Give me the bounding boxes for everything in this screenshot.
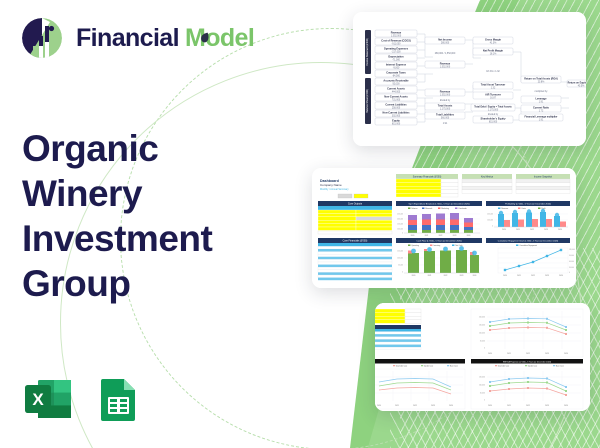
flow-node: Total Assets 1,175,000 [425, 103, 465, 110]
svg-text:18.1% x 1.32: 18.1% x 1.32 [486, 71, 500, 73]
svg-text:2020: 2020 [412, 275, 416, 277]
flow-node: Return on Total Assets (ROA) 23.8% [521, 76, 561, 83]
svg-text:Shareholder's Equity: Shareholder's Equity [481, 117, 507, 120]
svg-text:divided by: divided by [440, 100, 451, 102]
svg-text:2022: 2022 [531, 275, 535, 277]
leaf-icon [200, 32, 209, 43]
svg-text:Leverage: Leverage [536, 97, 548, 100]
svg-text:Total Assets: Total Assets [438, 104, 453, 107]
svg-text:2024: 2024 [564, 405, 568, 407]
flow-node: Return on Equity (ROE) 45.5% [567, 80, 586, 87]
brand-wordmark: Financial Model [76, 26, 254, 51]
svg-text:2024: 2024 [467, 235, 471, 237]
svg-text:2022: 2022 [413, 405, 417, 407]
flow-node: Total Liabilities 560,000 [425, 112, 465, 119]
svg-text:0: 0 [402, 233, 403, 235]
panel-title-banner-left [375, 359, 465, 364]
svg-text:100,000: 100,000 [487, 220, 493, 222]
svg-text:0: 0 [569, 272, 570, 274]
core-outputs-panel: Core Outputs [318, 201, 392, 234]
summary-financials-panel: Summary Financials (£'000) [396, 174, 458, 197]
svg-text:2024: 2024 [564, 353, 568, 355]
svg-text:23.8%: 23.8% [538, 81, 545, 83]
svg-text:Current Liabilities: Current Liabilities [385, 103, 407, 106]
flow-node: Non-Current Assets 731,000 [375, 94, 417, 101]
svg-text:1,552,000: 1,552,000 [440, 66, 451, 68]
svg-text:2021: 2021 [425, 235, 429, 237]
page-title-line-4: Group [22, 261, 262, 306]
svg-text:615,000: 615,000 [489, 121, 498, 123]
svg-text:-911,000: -911,000 [392, 43, 402, 45]
svg-text:2022: 2022 [444, 275, 448, 277]
svg-text:Non-Current Assets: Non-Current Assets [384, 95, 408, 98]
flow-node: Current Assets 444,000 [375, 86, 417, 93]
projection-charts-card[interactable]: 200,000150,000 100,00050,0000 2020202120… [375, 303, 590, 411]
svg-text:258,000: 258,000 [392, 107, 401, 109]
flow-node: A/R Turnover 16.87 [473, 92, 513, 99]
svg-text:Profitability (£ '000) - 5 Yea: Profitability (£ '000) - 5 Years (or Dec… [505, 203, 551, 206]
svg-text:2021: 2021 [395, 405, 399, 407]
svg-text:2022: 2022 [530, 229, 534, 231]
brand-name-green: Model [185, 26, 254, 51]
svg-text:Balance Sheet (£'000): Balance Sheet (£'000) [366, 89, 369, 113]
svg-text:Gross Margin: Gross Margin [485, 38, 502, 41]
flow-node: Revenue 1,552,000 [425, 89, 465, 96]
svg-text:Marketing: Marketing [441, 207, 448, 210]
svg-text:2021: 2021 [507, 353, 511, 355]
poster-canvas: Financial Model Organic Winery Investmen… [0, 0, 600, 448]
flow-node: Net Income 280,000 [425, 37, 465, 44]
svg-text:Base Case: Base Case [556, 365, 564, 367]
svg-text:Cash Flow (£ '000) - 5 Years (: Cash Flow (£ '000) - 5 Years (or Decembe… [416, 240, 462, 243]
svg-text:100,000: 100,000 [479, 333, 485, 335]
svg-text:1.72: 1.72 [539, 110, 544, 112]
flow-node: Corporate Taxes -64,000 [375, 70, 417, 77]
svg-text:280,000 / 1,552,000: 280,000 / 1,552,000 [435, 53, 456, 55]
svg-text:Summary Financials (£'000): Summary Financials (£'000) [413, 176, 442, 179]
svg-text:Current Assets: Current Assets [387, 87, 405, 90]
svg-text:Return on Total Assets (ROA): Return on Total Assets (ROA) [524, 77, 558, 80]
svg-text:Base Case: Base Case [450, 365, 458, 367]
flow-node: Total Asset Turnover 1.32 [473, 82, 513, 89]
svg-text:2020: 2020 [411, 235, 415, 237]
svg-text:90,000: 90,000 [569, 255, 574, 257]
flow-node: Leverage 1.91 [521, 96, 561, 103]
dupont-flowchart: Income Statement (£'000) Balance Sheet (… [353, 12, 586, 146]
svg-text:731,000: 731,000 [392, 99, 401, 101]
svg-text:2024: 2024 [449, 405, 453, 407]
svg-text:Downside Case: Downside Case [396, 365, 407, 367]
flow-node: Non-Current Liabilities 302,000 [375, 110, 417, 117]
svg-text:1.91: 1.91 [443, 123, 448, 125]
svg-text:2024: 2024 [473, 275, 477, 277]
svg-text:444,000: 444,000 [392, 91, 401, 93]
svg-text:Core Outputs: Core Outputs [348, 203, 363, 206]
svg-text:100,000: 100,000 [397, 229, 403, 231]
income-snapshot-panel: Income Snapshot [516, 174, 570, 193]
assumptions-table [375, 309, 421, 350]
svg-text:50,000: 50,000 [398, 265, 403, 267]
svg-text:Income Statement (£'000): Income Statement (£'000) [366, 38, 369, 66]
svg-text:0: 0 [484, 348, 485, 350]
svg-text:2023: 2023 [431, 405, 435, 407]
flow-node: Shareholder's Equity 615,000 [473, 116, 513, 123]
svg-text:Revenue: Revenue [501, 208, 508, 210]
flow-node: Total Debt / Equity = Total Assets 1,175… [471, 104, 515, 111]
svg-text:Cumulative Repayment Chart (£: Cumulative Repayment Chart (£ '000) - 5 … [498, 240, 559, 243]
svg-text:2020: 2020 [377, 405, 381, 407]
flow-node: Revenue 1,552,000 [375, 30, 417, 37]
page-title-line-2: Winery [22, 171, 262, 216]
svg-text:Total Debt / Equity = Total As: Total Debt / Equity = Total Assets [474, 105, 512, 108]
flow-node: Equity 615,000 [375, 118, 417, 125]
svg-text:2023: 2023 [460, 275, 464, 277]
svg-text:Current Ratio: Current Ratio [533, 106, 549, 109]
svg-text:2023: 2023 [544, 229, 548, 231]
svg-text:Equity: Equity [392, 119, 400, 122]
svg-text:Total Asset Turnover: Total Asset Turnover [481, 83, 506, 86]
svg-text:150,000: 150,000 [397, 224, 403, 226]
svg-text:Upside Case: Upside Case [528, 365, 537, 367]
flow-node: Depreciation -71,000 [375, 54, 417, 61]
svg-text:A/R Turnover: A/R Turnover [485, 93, 501, 96]
file-format-icons: X [22, 373, 144, 425]
flow-node: Current Ratio 1.72 [521, 105, 561, 112]
page-title-line-1: Organic [22, 126, 262, 171]
svg-text:Cumulative Repayment: Cumulative Repayment [519, 244, 537, 247]
svg-text:Cost of Revenue (COGS): Cost of Revenue (COGS) [381, 39, 411, 42]
svg-text:Downside Case: Downside Case [498, 365, 509, 367]
flow-node: Cost of Revenue (COGS) -911,000 [375, 38, 417, 45]
svg-text:302,000: 302,000 [392, 115, 401, 117]
svg-text:1,175,000: 1,175,000 [488, 109, 499, 111]
svg-text:Accounts Receivable: Accounts Receivable [383, 79, 409, 82]
svg-text:2023: 2023 [545, 353, 549, 355]
svg-text:150,000: 150,000 [479, 377, 485, 379]
svg-text:1.91: 1.91 [539, 101, 544, 103]
svg-text:1.91: 1.91 [539, 119, 544, 121]
svg-text:50,000: 50,000 [480, 393, 485, 395]
brand-name-green-text: Model [185, 24, 254, 52]
svg-text:-9,000: -9,000 [393, 67, 400, 69]
svg-text:Interest Expense: Interest Expense [386, 63, 407, 66]
pie-bar-chart-logo-icon [20, 16, 64, 60]
svg-text:2020: 2020 [502, 229, 506, 231]
svg-text:Monthly / Annual Summary: Monthly / Annual Summary [320, 188, 349, 191]
svg-text:Overheads: Overheads [458, 207, 466, 210]
flow-node: Gross Margin 41.3% [473, 37, 513, 44]
svg-text:Return on Equity (ROE): Return on Equity (ROE) [568, 81, 586, 84]
page-title-line-3: Investment [22, 216, 262, 261]
svg-text:2022: 2022 [439, 235, 443, 237]
svg-text:Costs: Costs [521, 207, 525, 210]
flow-node: Revenue 1,552,000 [425, 61, 465, 68]
svg-text:X: X [32, 390, 44, 409]
svg-text:92,000: 92,000 [392, 83, 400, 85]
key-metrics-panel: Key Metrics [462, 174, 512, 193]
svg-text:Total Liabilities: Total Liabilities [436, 113, 455, 116]
svg-text:Revenue: Revenue [440, 62, 451, 65]
svg-text:1,552,000: 1,552,000 [391, 35, 402, 37]
core-financials-panel: Core Financials (£'000) [318, 238, 392, 280]
svg-text:-71,000: -71,000 [392, 59, 401, 61]
page-title: Organic Winery Investment Group [22, 126, 262, 307]
svg-text:2023: 2023 [545, 275, 549, 277]
svg-text:Investing: Investing [433, 244, 440, 247]
svg-text:Revenue: Revenue [391, 31, 402, 34]
svg-text:2021: 2021 [516, 229, 520, 231]
svg-text:1.32: 1.32 [491, 87, 496, 89]
svg-text:2022: 2022 [526, 405, 530, 407]
svg-text:-64,000: -64,000 [392, 75, 401, 77]
svg-text:Key Metrics: Key Metrics [481, 176, 494, 179]
svg-text:Salaries: Salaries [411, 207, 417, 210]
svg-text:0: 0 [402, 272, 403, 274]
svg-text:45.5%: 45.5% [578, 85, 585, 87]
svg-text:2022: 2022 [526, 353, 530, 355]
svg-text:Core Financials (£'000): Core Financials (£'000) [343, 240, 368, 243]
svg-text:Non-Current Liabilities: Non-Current Liabilities [383, 111, 411, 114]
svg-text:60,000: 60,000 [569, 261, 574, 263]
svg-text:2024: 2024 [558, 229, 562, 231]
svg-text:18.1%: 18.1% [490, 53, 497, 55]
svg-text:Operating Expenses: Operating Expenses [384, 47, 409, 50]
svg-text:2024: 2024 [559, 275, 563, 277]
flow-node: Net Profit Margin 18.1% [473, 48, 513, 55]
brand-name-dark: Financial [76, 26, 179, 51]
financial-dashboard: Dashboard Company Name Monthly / Annual … [312, 168, 576, 288]
flow-node: Operating Expenses -217,000 [375, 46, 417, 53]
svg-text:200,000: 200,000 [479, 317, 485, 319]
svg-text:100,000: 100,000 [397, 258, 403, 260]
svg-text:100,000: 100,000 [479, 385, 485, 387]
projection-charts: 200,000150,000 100,00050,0000 2020202120… [375, 303, 590, 411]
svg-text:Materials: Materials [425, 207, 432, 210]
svg-text:2023: 2023 [453, 235, 457, 237]
svg-text:Operating: Operating [411, 244, 418, 247]
svg-text:2020: 2020 [503, 275, 507, 277]
flow-node: Interest Expense -9,000 [375, 62, 417, 69]
svg-text:Corporate Taxes: Corporate Taxes [386, 71, 406, 74]
svg-text:0: 0 [484, 400, 485, 402]
svg-text:150,000: 150,000 [479, 325, 485, 327]
svg-text:2023: 2023 [545, 405, 549, 407]
svg-text:280,000: 280,000 [441, 42, 450, 44]
svg-text:50,000: 50,000 [480, 341, 485, 343]
svg-text:Financial Leverage multiplier: Financial Leverage multiplier [525, 115, 558, 118]
svg-text:-217,000: -217,000 [391, 51, 401, 53]
svg-text:EBITDA Projection (£ '000) - 5: EBITDA Projection (£ '000) - 5 Years (or… [503, 360, 551, 363]
svg-text:Revenue: Revenue [440, 90, 451, 93]
svg-text:Upside Case: Upside Case [424, 365, 433, 367]
svg-text:multiplied by: multiplied by [535, 90, 549, 93]
svg-text:divided by: divided by [488, 114, 499, 116]
svg-text:2021: 2021 [517, 275, 521, 277]
chart-projection-bottom-left: 20202021202220232024 [375, 369, 465, 409]
svg-text:30,000: 30,000 [569, 267, 574, 269]
svg-text:2021: 2021 [428, 275, 432, 277]
flow-node: Accounts Receivable 92,000 [375, 78, 417, 85]
google-sheets-icon[interactable] [92, 373, 144, 425]
flow-node: Financial Leverage multiplier 1.91 [519, 114, 563, 121]
svg-text:0: 0 [492, 226, 493, 228]
svg-text:41.3%: 41.3% [490, 42, 497, 44]
svg-text:560,000: 560,000 [441, 117, 450, 119]
chart-projection-bottom-right: 150,000100,00050,0000 202020212022202320… [471, 369, 583, 409]
excel-icon[interactable]: X [22, 373, 74, 425]
svg-text:1,175,000: 1,175,000 [440, 108, 451, 110]
svg-text:150,000: 150,000 [397, 251, 403, 253]
svg-text:120,000: 120,000 [569, 249, 575, 251]
svg-text:Company Name: Company Name [320, 183, 342, 187]
svg-text:2020: 2020 [488, 405, 492, 407]
svg-text:200,000: 200,000 [487, 214, 493, 216]
flowchart-card[interactable]: Income Statement (£'000) Balance Sheet (… [353, 12, 586, 146]
flow-node: Current Liabilities 258,000 [375, 102, 417, 109]
svg-text:250,000: 250,000 [397, 214, 403, 216]
chart-profitability: Profitability (£ '000) - 5 Years (or Dec… [486, 201, 570, 231]
svg-text:200,000: 200,000 [397, 219, 403, 221]
svg-text:1,552,000: 1,552,000 [440, 94, 451, 96]
svg-text:2020: 2020 [488, 353, 492, 355]
dashboard-card[interactable]: Dashboard Company Name Monthly / Annual … [312, 168, 576, 288]
svg-text:2021: 2021 [507, 405, 511, 407]
svg-text:Net Profit Margin: Net Profit Margin [483, 49, 504, 52]
chart-projection-top-right: 200,000150,000 100,00050,0000 2020202120… [471, 309, 583, 357]
svg-text:Top 5 Expenditure Breakout (£: Top 5 Expenditure Breakout (£ '000) - 5 … [408, 203, 469, 206]
svg-text:Depreciation: Depreciation [388, 55, 404, 58]
svg-text:615,000: 615,000 [392, 123, 401, 125]
svg-text:Income Snapshot: Income Snapshot [534, 176, 552, 179]
svg-text:16.87: 16.87 [490, 97, 496, 99]
svg-text:Net Income: Net Income [438, 38, 452, 41]
brand-logo: Financial Model [20, 16, 254, 60]
